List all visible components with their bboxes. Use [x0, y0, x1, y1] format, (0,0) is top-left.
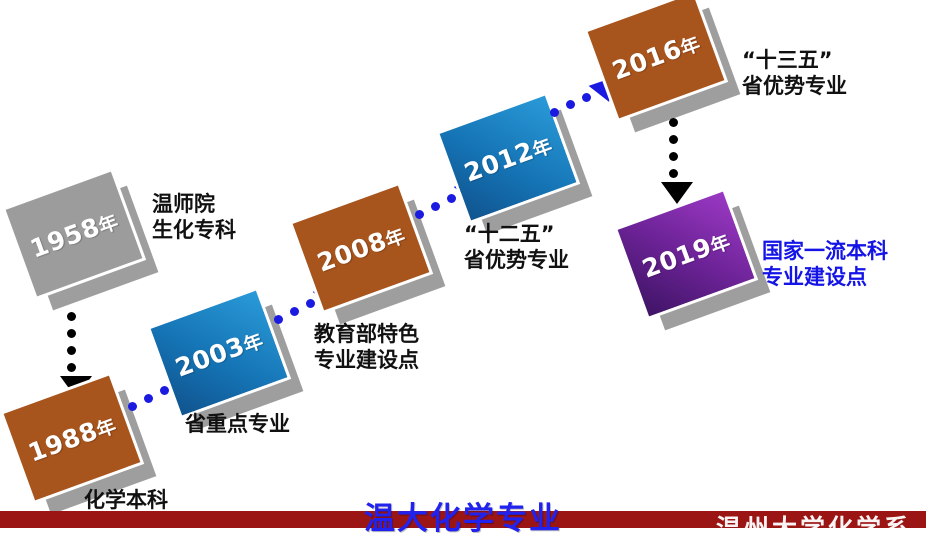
caption-2008: 教育部特色 专业建设点	[314, 322, 419, 373]
caption-2008-line1: 教育部特色	[314, 322, 419, 348]
banner-title: 温大化学专业	[0, 493, 926, 538]
caption-2016-line1: “十三五”	[742, 48, 847, 74]
caption-2012: “十二五” 省优势专业	[464, 222, 569, 273]
caption-2012-line2: 省优势专业	[464, 248, 569, 274]
year-label-2008: 2008年	[313, 219, 409, 277]
caption-2003-line1: 省重点专业	[185, 412, 290, 438]
year-label-2016: 2016年	[608, 27, 704, 85]
connector-2016-2019	[663, 118, 689, 200]
year-label-2019: 2019年	[638, 225, 734, 283]
caption-2019-line2: 专业建设点	[762, 265, 888, 291]
year-label-1958: 1958年	[26, 205, 122, 263]
caption-2008-line2: 专业建设点	[314, 348, 419, 374]
connector-1958-1988	[62, 312, 86, 390]
milestone-2016[interactable]: 2016年	[600, 10, 755, 130]
year-label-2012: 2012年	[460, 129, 556, 187]
caption-2019-line1: 国家一流本科	[762, 239, 888, 265]
caption-2012-line1: “十二五”	[464, 222, 569, 248]
year-label-2003: 2003年	[171, 324, 267, 382]
caption-2019: 国家一流本科 专业建设点	[762, 239, 888, 290]
caption-1958-line1: 温师院	[152, 192, 236, 218]
caption-2016-line2: 省优势专业	[742, 74, 847, 100]
caption-2016: “十三五” 省优势专业	[742, 48, 847, 99]
milestone-2012[interactable]: 2012年	[452, 112, 607, 232]
caption-1958: 温师院 生化专科	[152, 192, 236, 243]
year-label-1988: 1988年	[24, 409, 120, 467]
caption-2003: 省重点专业	[185, 412, 290, 438]
slide-canvas: 1958年 温师院 生化专科 1988年 化学本科	[0, 0, 926, 550]
milestone-1958[interactable]: 1958年	[18, 188, 168, 308]
arrowhead-icon	[661, 182, 693, 204]
caption-1958-line2: 生化专科	[152, 218, 236, 244]
